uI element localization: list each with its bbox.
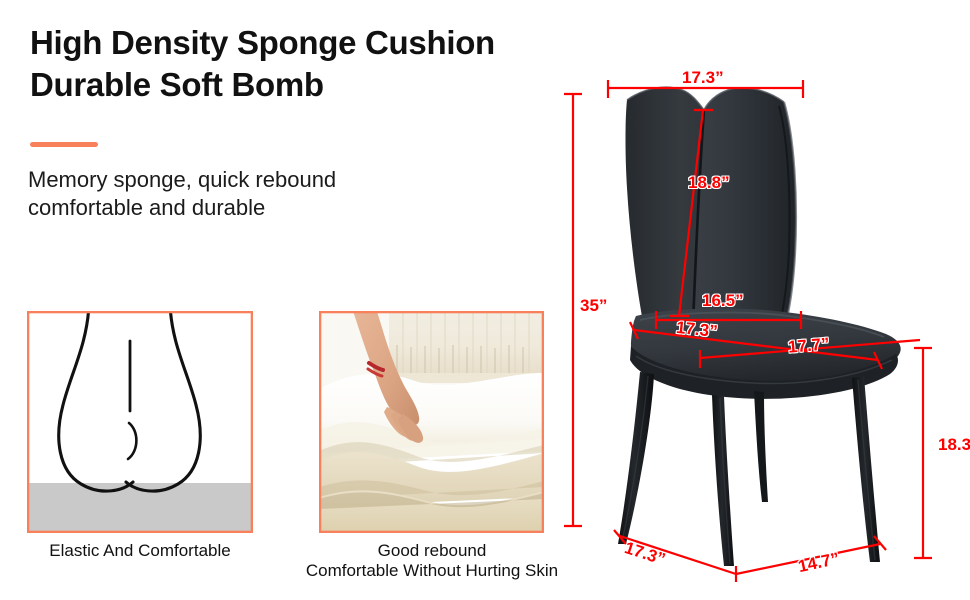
- panel-elastic-illustration: [27, 311, 253, 533]
- dimension-seat-width: 16.5”: [702, 291, 744, 311]
- dimension-seat-height: 18.3”: [938, 435, 970, 455]
- page-subtitle-line-1: Memory sponge, quick rebound: [28, 166, 498, 194]
- dimension-seat-depth: 17.3”: [675, 318, 718, 342]
- product-dimension-diagram: 17.3” 18.8” 35” 16.5” 17.3” 17.7” 18.3” …: [548, 58, 970, 588]
- page-title: High Density Sponge Cushion Durable Soft…: [30, 22, 550, 106]
- dimension-back-width: 17.3”: [682, 68, 724, 88]
- page-title-line-1: High Density Sponge Cushion: [30, 22, 550, 64]
- chair-illustration: [548, 58, 970, 588]
- hand-pressing-foam-photo: [319, 311, 544, 533]
- accent-divider: [30, 142, 98, 147]
- dimension-back-height: 18.8”: [688, 173, 730, 193]
- page-title-line-2: Durable Soft Bomb: [30, 64, 550, 106]
- panel-rebound-caption: Good rebound Comfortable Without Hurting…: [279, 541, 585, 581]
- panel-elastic-caption: Elastic And Comfortable: [5, 541, 275, 561]
- dimension-overall-height: 35”: [580, 296, 607, 316]
- page-subtitle: Memory sponge, quick rebound comfortable…: [28, 166, 498, 223]
- dimension-seat-front-width: 17.7”: [787, 334, 830, 358]
- panel-rebound-photo: [319, 311, 544, 533]
- infographic-canvas: High Density Sponge Cushion Durable Soft…: [0, 0, 970, 600]
- page-subtitle-line-2: comfortable and durable: [28, 194, 498, 222]
- seated-body-diagram: [27, 311, 253, 533]
